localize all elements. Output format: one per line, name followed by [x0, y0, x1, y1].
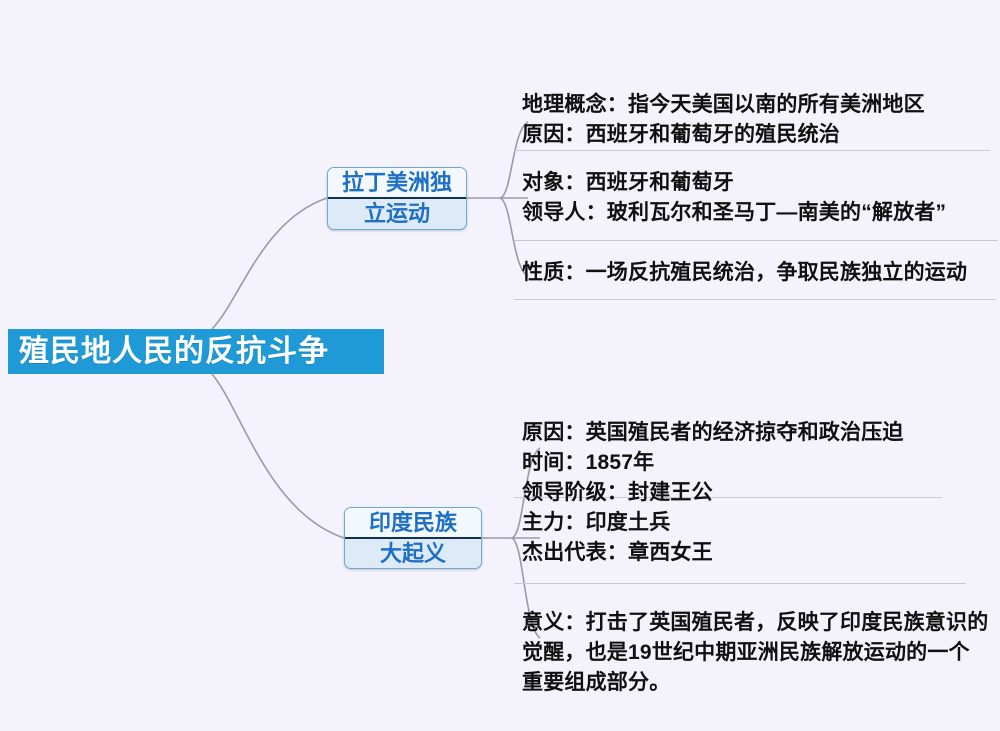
- leaf-item: 性质：一场反抗殖民统治，争取民族独立的运动: [522, 258, 967, 288]
- leaf-group-geography-cause: 地理概念：指今天美国以南的所有美洲地区 原因：西班牙和葡萄牙的殖民统治: [522, 90, 925, 150]
- leaf-group-force-representative: 主力：印度土兵 杰出代表：章西女王: [522, 508, 713, 568]
- leaf-item: 地理概念：指今天美国以南的所有美洲地区: [522, 90, 925, 120]
- leaf-group-cause-time-class: 原因：英国殖民者的经济掠夺和政治压迫 时间：1857年 领导阶级：封建王公: [522, 418, 904, 508]
- branch-node-latin-america[interactable]: 拉丁美洲独 立运动: [327, 167, 467, 230]
- leaf-item: 杰出代表：章西女王: [522, 538, 713, 568]
- leaf-group-nature: 性质：一场反抗殖民统治，争取民族独立的运动: [522, 258, 967, 288]
- root-node[interactable]: 殖民地人民的反抗斗争: [8, 329, 384, 374]
- group-rule: [514, 150, 990, 151]
- leaf-item: 对象：西班牙和葡萄牙: [522, 168, 946, 198]
- leaf-item: 意义：打击了英国殖民者，反映了印度民族意识的觉醒，也是19世纪中期亚洲民族解放运…: [522, 608, 990, 698]
- branch-node-india-rebellion-label-line2: 大起义: [345, 539, 481, 568]
- branch-node-latin-america-label-line2: 立运动: [328, 199, 466, 228]
- connector-root-to-india: [212, 374, 344, 538]
- branch-node-india-rebellion-label-line1: 印度民族: [345, 508, 481, 539]
- leaf-item: 主力：印度土兵: [522, 508, 713, 538]
- leaf-item: 原因：英国殖民者的经济掠夺和政治压迫: [522, 418, 904, 448]
- branch-node-india-rebellion[interactable]: 印度民族 大起义: [344, 507, 482, 569]
- leaf-item: 时间：1857年: [522, 448, 904, 478]
- group-rule: [514, 583, 966, 584]
- root-node-label: 殖民地人民的反抗斗争: [19, 337, 329, 367]
- leaf-item: 领导阶级：封建王公: [522, 478, 904, 508]
- connector-root-to-latin: [212, 198, 327, 329]
- leaf-group-significance: 意义：打击了英国殖民者，反映了印度民族意识的觉醒，也是19世纪中期亚洲民族解放运…: [522, 608, 990, 698]
- leaf-item: 领导人：玻利瓦尔和圣马丁—南美的“解放者”: [522, 198, 946, 228]
- branch-node-latin-america-label-line1: 拉丁美洲独: [328, 168, 466, 199]
- leaf-item: 原因：西班牙和葡萄牙的殖民统治: [522, 120, 925, 150]
- group-rule: [514, 299, 996, 300]
- leaf-group-target-leaders: 对象：西班牙和葡萄牙 领导人：玻利瓦尔和圣马丁—南美的“解放者”: [522, 168, 946, 228]
- mindmap-canvas: 殖民地人民的反抗斗争 拉丁美洲独 立运动 印度民族 大起义 地理概念：指今天美国…: [0, 0, 1000, 731]
- group-rule: [514, 240, 998, 241]
